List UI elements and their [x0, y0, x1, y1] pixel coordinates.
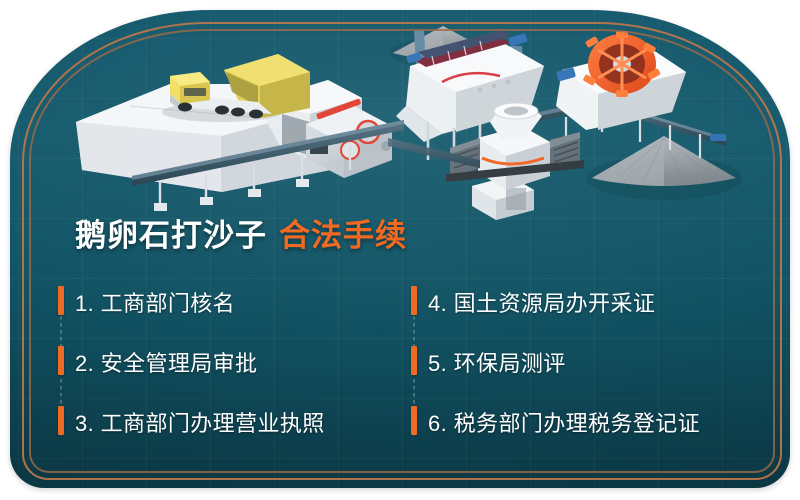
- list-item-label: 3. 工商部门办理营业执照: [75, 406, 325, 438]
- list-item-label: 1. 工商部门核名: [75, 286, 235, 318]
- poster-root: 鹅卵石打沙子合法手续 1. 工商部门核名 2. 安全管理局审批 3. 工商部门办…: [0, 0, 800, 500]
- list-item[interactable]: 6. 税务部门办理税务登记证: [411, 392, 741, 452]
- bullet-bar-icon: [411, 346, 417, 375]
- list-item-label: 4. 国土资源局办开采证: [428, 286, 655, 318]
- bullet-bar-icon: [58, 286, 64, 315]
- bullet-bar-icon: [58, 346, 64, 375]
- bullet-bar-icon: [411, 286, 417, 315]
- list-item[interactable]: 4. 国土资源局办开采证: [411, 272, 741, 332]
- list-item-label: 2. 安全管理局审批: [75, 346, 257, 378]
- checklist-column-left: 1. 工商部门核名 2. 安全管理局审批 3. 工商部门办理营业执照: [58, 272, 388, 452]
- list-item[interactable]: 1. 工商部门核名: [58, 272, 388, 332]
- list-item-label: 6. 税务部门办理税务登记证: [428, 406, 700, 438]
- list-item[interactable]: 3. 工商部门办理营业执照: [58, 392, 388, 452]
- list-item[interactable]: 5. 环保局测评: [411, 332, 741, 392]
- title-main-text: 鹅卵石打沙子: [75, 218, 267, 253]
- procedure-checklist: 1. 工商部门核名 2. 安全管理局审批 3. 工商部门办理营业执照 4. 国土…: [58, 272, 748, 452]
- checklist-column-right: 4. 国土资源局办开采证 5. 环保局测评 6. 税务部门办理税务登记证: [411, 272, 741, 452]
- bullet-bar-icon: [411, 406, 417, 435]
- list-item-label: 5. 环保局测评: [428, 346, 566, 378]
- bullet-bar-icon: [58, 406, 64, 435]
- list-item[interactable]: 2. 安全管理局审批: [58, 332, 388, 392]
- title-accent-text: 合法手续: [279, 218, 407, 253]
- page-title: 鹅卵石打沙子合法手续: [75, 210, 407, 255]
